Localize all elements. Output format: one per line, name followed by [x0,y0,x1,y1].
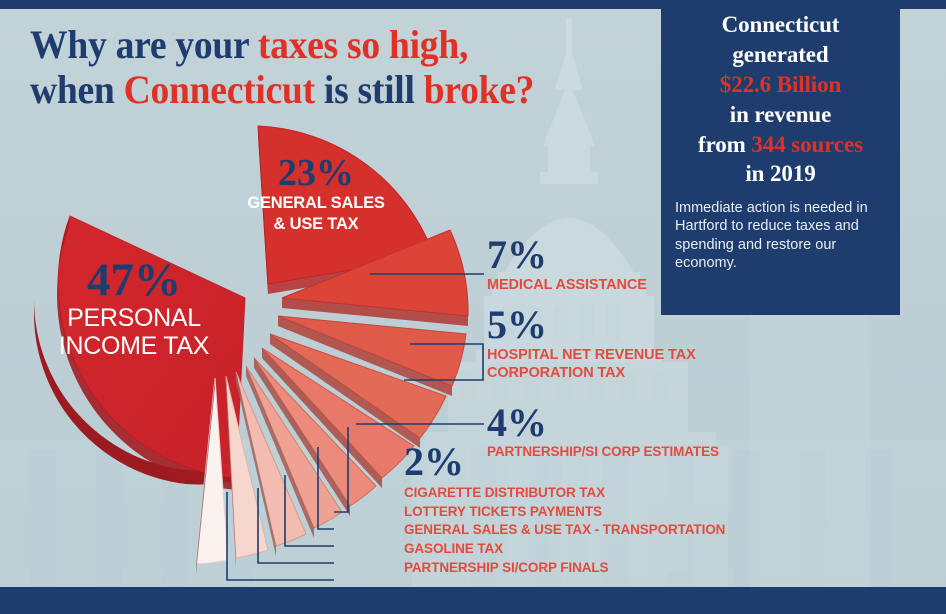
label-personal-income-tax: 47% PERSONAL INCOME TAX [36,258,232,359]
panel-line-4-a: from [698,132,751,157]
medical-assistance-caption: MEDICAL ASSISTANCE [487,277,647,293]
two-percent-item: LOTTERY TICKETS PAYMENTS [404,503,725,522]
hospital-net-revenue-tax-caption: HOSPITAL NET REVENUE TAX [487,347,696,365]
panel-line-2: generated [675,40,886,70]
infographic-root: Why are your taxes so high, when Connect… [0,0,946,614]
two-percent-item: GENERAL SALES & USE TAX - TRANSPORTATION [404,521,725,540]
callout-two-percent-group: 2% CIGARETTE DISTRIBUTOR TAX LOTTERY TIC… [404,443,725,577]
general-sales-percent: 23% [236,155,396,191]
label-general-sales-use-tax: 23% GENERAL SALES & USE TAX [236,155,396,233]
hospital-corporation-captions: HOSPITAL NET REVENUE TAX CORPORATION TAX [487,347,696,382]
panel-line-5: in 2019 [675,159,886,189]
panel-line-1: Connecticut [675,10,886,40]
leader-cigarette [334,427,348,512]
callout-hospital-corporation: 5% HOSPITAL NET REVENUE TAX CORPORATION … [487,306,696,382]
personal-income-tax-percent: 47% [36,258,232,303]
revenue-summary-heading: Connecticut generated $22.6 Billion in r… [675,10,886,189]
partnership-estimates-percent: 4% [487,404,719,442]
panel-amount: $22.6 Billion [675,70,886,100]
leader-transportation [285,475,334,546]
two-percent-item: CIGARETTE DISTRIBUTOR TAX [404,484,725,503]
medical-assistance-percent: 7% [487,236,647,274]
panel-line-4-b: 344 sources [751,132,863,157]
general-sales-caption-line1: GENERAL SALES [236,194,396,212]
two-percent-item: GASOLINE TAX [404,540,725,559]
leader-gasoline [258,488,334,563]
revenue-summary-body: Immediate action is needed in Hartford t… [675,199,886,272]
bottom-accent-bar [0,587,946,614]
top-accent-bar [0,0,946,9]
panel-line-4: from 344 sources [675,130,886,160]
general-sales-caption-line2: & USE TAX [236,215,396,233]
callout-medical-assistance: 7% MEDICAL ASSISTANCE [487,236,647,293]
two-percent-item: PARTNERSHIP SI/CORP FINALS [404,559,725,578]
leader-hospital [404,344,483,380]
panel-line-3: in revenue [675,100,886,130]
two-percent-caption-list: CIGARETTE DISTRIBUTOR TAX LOTTERY TICKET… [404,484,725,577]
two-percent-percent: 2% [404,443,725,481]
corporation-tax-caption: CORPORATION TAX [487,365,696,383]
leader-lottery [318,447,334,529]
revenue-summary-panel: Connecticut generated $22.6 Billion in r… [661,0,900,315]
personal-income-tax-caption-line1: PERSONAL [36,305,232,331]
personal-income-tax-caption-line2: INCOME TAX [36,333,232,359]
